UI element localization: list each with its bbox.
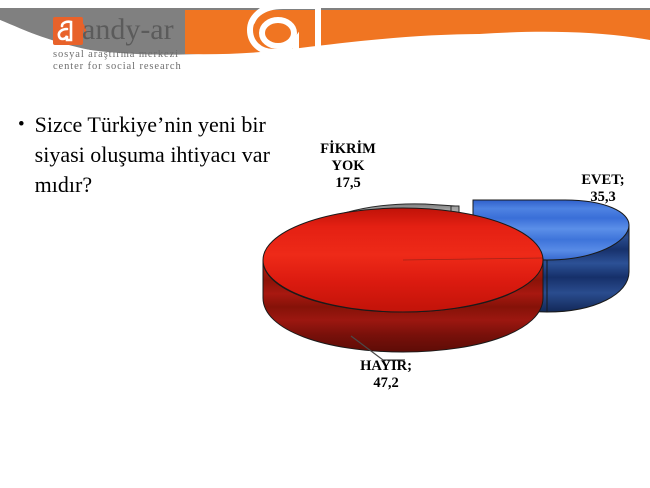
chart-label-hayir: HAYIR; 47,2: [336, 358, 436, 392]
logo-wordmark: andy-ar: [82, 13, 174, 47]
question-block: • Sizce Türkiye’nin yeni bir siyasi oluş…: [18, 110, 280, 200]
andy-ar-logo: andy-ar sosyal araştırma merkezi center …: [52, 16, 272, 76]
pie-slice-hayir: [263, 208, 543, 352]
chart-label-fikrim-yok-line2: YOK: [300, 158, 396, 175]
chart-label-hayir-value: 47,2: [336, 375, 436, 392]
logo-subtitle-english: center for social research: [53, 61, 182, 72]
chart-label-evet-line1: EVET;: [566, 172, 640, 189]
logo-subtitle-turkish: sosyal araştırma merkezi: [53, 49, 179, 60]
chart-label-evet: EVET; 35,3: [566, 172, 640, 206]
chart-label-evet-value: 35,3: [566, 189, 640, 206]
chart-label-fikrim-yok-value: 17,5: [300, 175, 396, 192]
bullet-icon: •: [18, 110, 25, 140]
chart-label-fikrim-yok: FİKRİM YOK 17,5: [300, 141, 396, 192]
chart-label-fikrim-yok-line1: FİKRİM: [300, 141, 396, 158]
chart-label-hayir-line1: HAYIR;: [336, 358, 436, 375]
question-text: Sizce Türkiye’nin yeni bir siyasi oluşum…: [35, 110, 280, 200]
